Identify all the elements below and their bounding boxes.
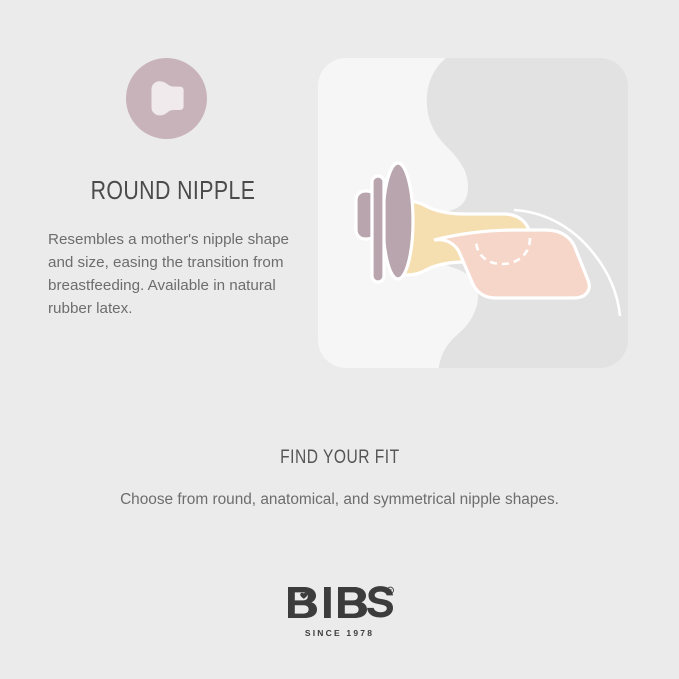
brand-tagline: SINCE 1978 (0, 628, 679, 638)
feature-text-column: ROUND NIPPLE Resembles a mother's nipple… (48, 58, 298, 320)
find-your-fit-heading: FIND YOUR FIT (0, 447, 679, 469)
round-nipple-shape-icon (126, 58, 207, 139)
pacifier-handle-shape (356, 176, 384, 282)
feature-title: ROUND NIPPLE (71, 175, 276, 206)
pacifier-shield-shape (383, 163, 413, 279)
brand-logo-block: R SINCE 1978 (0, 586, 679, 638)
feature-section: ROUND NIPPLE Resembles a mother's nipple… (0, 0, 679, 400)
illustration-card (318, 58, 628, 368)
bibs-logo: R (286, 586, 394, 620)
svg-text:R: R (388, 588, 391, 593)
find-your-fit-heading-text: FIND YOUR FIT (280, 447, 400, 469)
find-your-fit-subtext: Choose from round, anatomical, and symme… (0, 491, 679, 509)
feature-description: Resembles a mother's nipple shape and si… (48, 228, 290, 320)
